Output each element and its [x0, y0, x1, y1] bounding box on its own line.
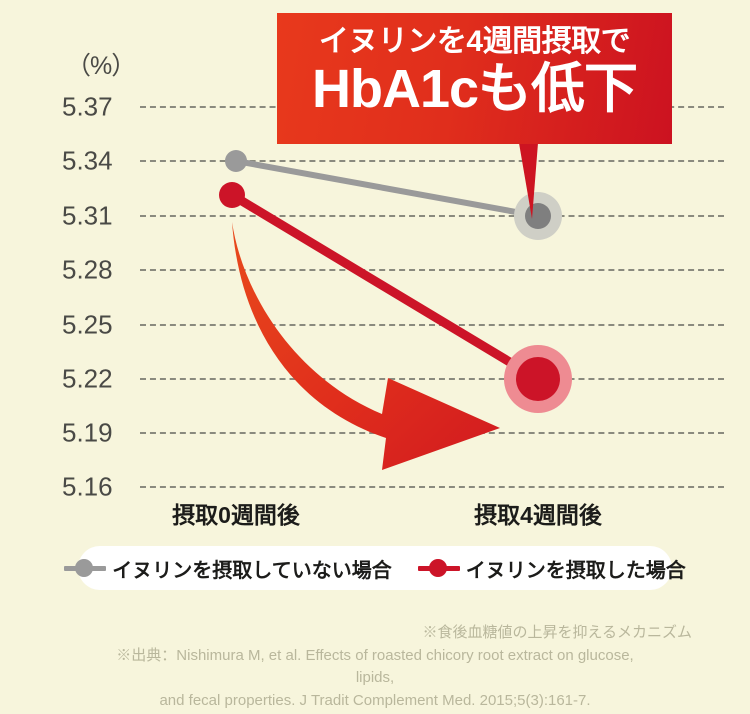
- legend-item-no-inulin[interactable]: イヌリンを摂取していない場合: [64, 554, 391, 583]
- data-point-red-week4: [516, 357, 560, 401]
- legend-label-no-inulin: イヌリンを摂取していない場合: [112, 554, 391, 583]
- callout-line-1: イヌリンを4週間摂取で: [277, 25, 672, 60]
- legend-item-inulin[interactable]: イヌリンを摂取した場合: [418, 554, 686, 583]
- chart-legend: イヌリンを摂取していない場合 イヌリンを摂取した場合: [78, 546, 672, 590]
- trend-arrow-icon: [232, 222, 500, 470]
- callout-line-2: HbA1cも低下: [277, 60, 672, 119]
- footnotes: ※食後血糖値の上昇を抑えるメカニズム ※出典：Nishimura M, et a…: [0, 622, 750, 712]
- footnote-source-line-1: ※出典：Nishimura M, et al. Effects of roast…: [0, 645, 750, 690]
- data-point-gray-week0: [225, 150, 247, 172]
- data-point-red-week0: [219, 182, 245, 208]
- callout-banner: イヌリンを4週間摂取で HbA1cも低下: [277, 13, 672, 144]
- legend-marker-gray-icon: [64, 559, 106, 577]
- callout-tail: [519, 143, 538, 219]
- footnote-source-line-2: and fecal properties. J Tradit Complemen…: [0, 690, 750, 713]
- series-no-inulin: [225, 150, 562, 240]
- chart-root: （%） 5.37 5.34 5.31 5.28 5.25 5.22 5.19 5…: [0, 0, 750, 714]
- legend-marker-red-icon: [418, 559, 460, 577]
- footnote-mechanism: ※食後血糖値の上昇を抑えるメカニズム: [0, 622, 750, 645]
- legend-label-inulin: イヌリンを摂取した場合: [466, 554, 686, 583]
